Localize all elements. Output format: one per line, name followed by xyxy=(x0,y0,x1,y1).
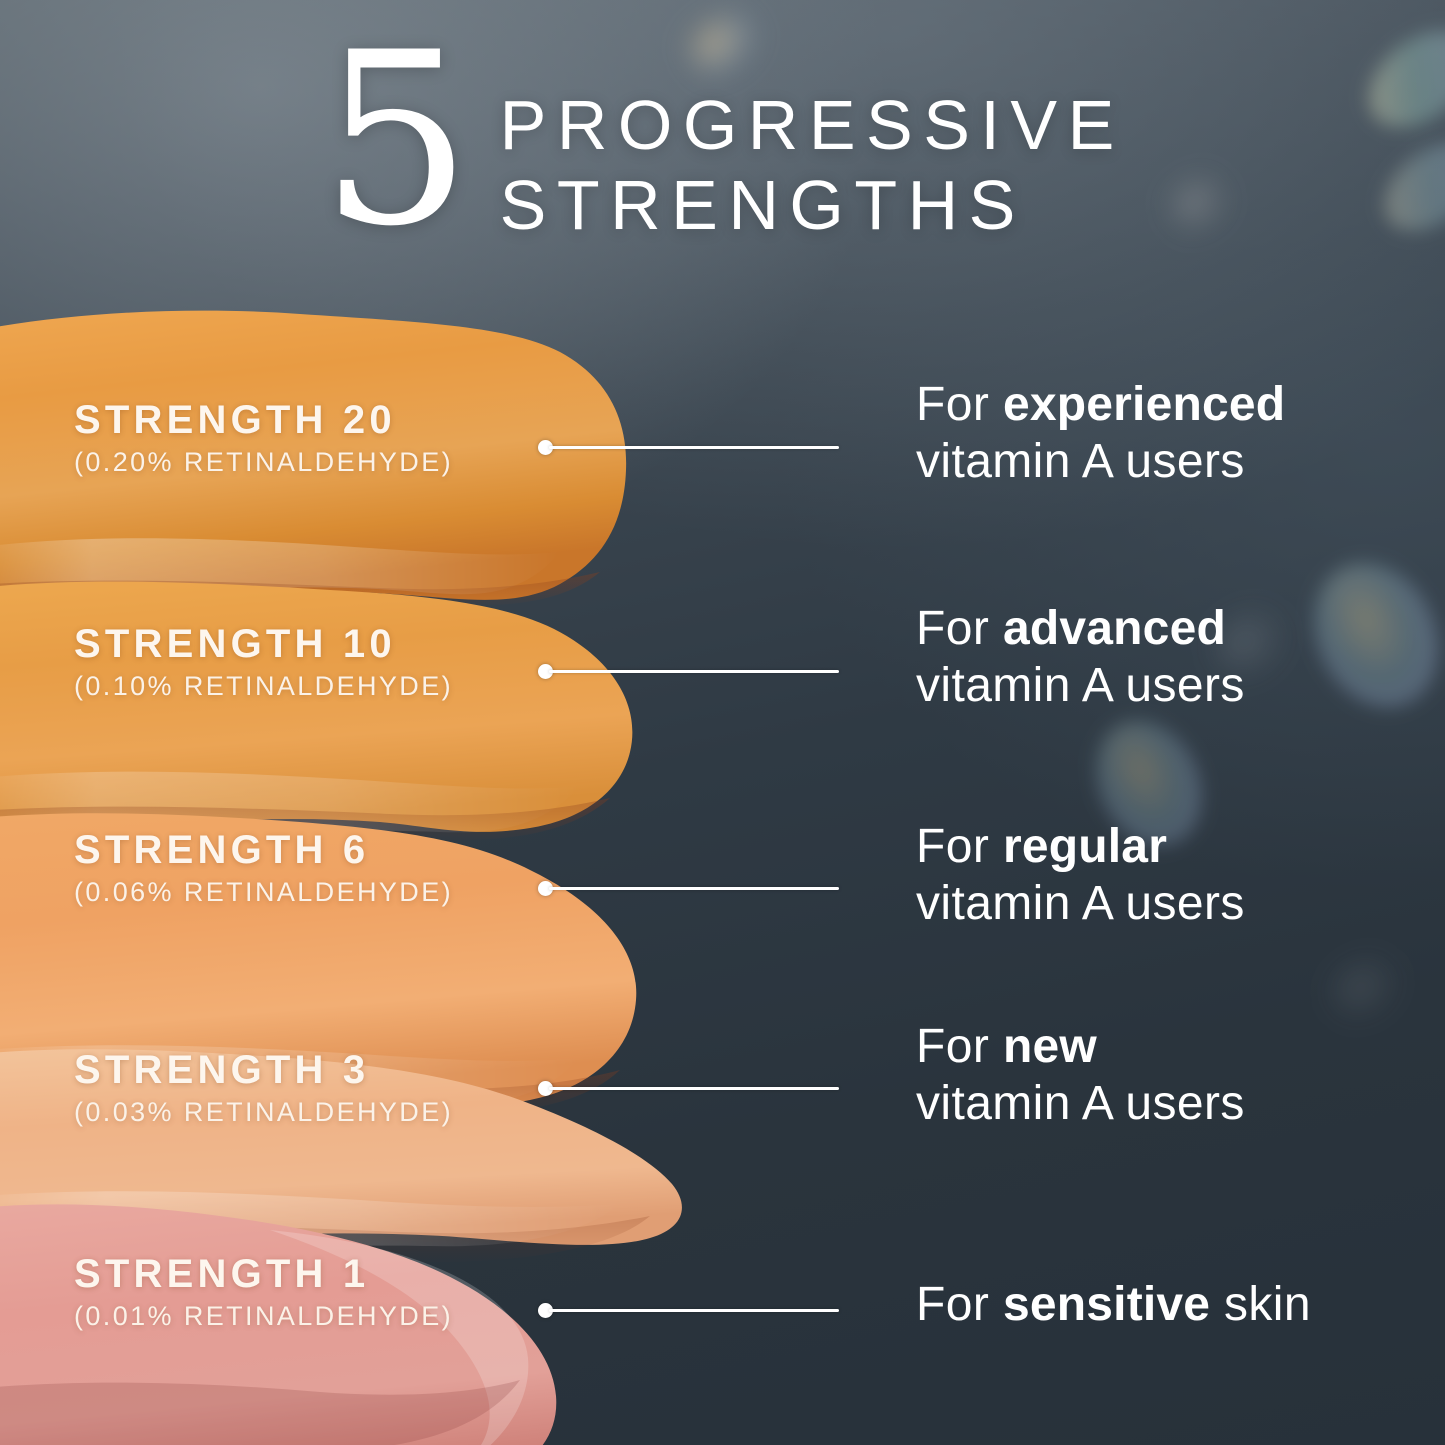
callout-prefix: For xyxy=(916,602,989,655)
callout-emphasis: experienced xyxy=(1003,378,1285,431)
callout-strength-1: For sensitive skin xyxy=(916,1278,1311,1332)
callout-line-2: vitamin A users xyxy=(916,1076,1245,1132)
callout-strength-6: For regular vitamin A users xyxy=(916,820,1245,931)
callout-emphasis: advanced xyxy=(1003,602,1226,655)
bokeh-flare-right-faint xyxy=(1201,596,1302,691)
bokeh-flare-right-large xyxy=(1291,542,1445,728)
callout-line-1: For sensitive skin xyxy=(916,1278,1311,1332)
callout-line-1: For experienced xyxy=(916,378,1285,432)
headline-block: 5 PROGRESSIVE STRENGTHS xyxy=(0,52,1445,246)
bokeh-flare-mid-small xyxy=(1161,166,1240,241)
callout-line-1: For new xyxy=(916,1020,1245,1074)
callout-suffix: skin xyxy=(1224,1278,1311,1331)
swatch-strength-10 xyxy=(0,582,632,844)
callout-strength-20: For experienced vitamin A users xyxy=(916,378,1285,489)
bokeh-flare-top-right-a xyxy=(1351,11,1445,146)
headline-line-1: PROGRESSIVE xyxy=(500,86,1125,166)
callout-emphasis: new xyxy=(1003,1020,1097,1073)
callout-emphasis: sensitive xyxy=(1003,1278,1210,1331)
callout-emphasis: regular xyxy=(1003,820,1167,873)
bokeh-flare-top-right-b xyxy=(1368,126,1445,249)
bokeh-flare-right-mid xyxy=(1076,703,1221,863)
swatch-strength-20 xyxy=(0,311,626,608)
callout-line-2: vitamin A users xyxy=(916,876,1245,932)
bokeh-flare-top-left xyxy=(682,4,769,84)
swatch-stack xyxy=(0,300,760,1445)
callout-line-2: vitamin A users xyxy=(916,434,1285,490)
callout-line-1: For advanced xyxy=(916,602,1245,656)
callout-line-1: For regular xyxy=(916,820,1245,874)
callout-strength-10: For advanced vitamin A users xyxy=(916,602,1245,713)
callout-line-2: vitamin A users xyxy=(916,658,1245,714)
callout-prefix: For xyxy=(916,1020,989,1073)
callout-prefix: For xyxy=(916,820,989,873)
headline-line-2: STRENGTHS xyxy=(500,166,1125,246)
callout-prefix: For xyxy=(916,1278,989,1331)
product-infographic: 5 PROGRESSIVE STRENGTHS xyxy=(0,0,1445,1445)
bokeh-flare-lower-right xyxy=(1321,946,1414,1032)
callout-prefix: For xyxy=(916,378,989,431)
headline-words: PROGRESSIVE STRENGTHS xyxy=(500,86,1125,246)
headline-number: 5 xyxy=(320,46,469,236)
callout-strength-3: For new vitamin A users xyxy=(916,1020,1245,1131)
